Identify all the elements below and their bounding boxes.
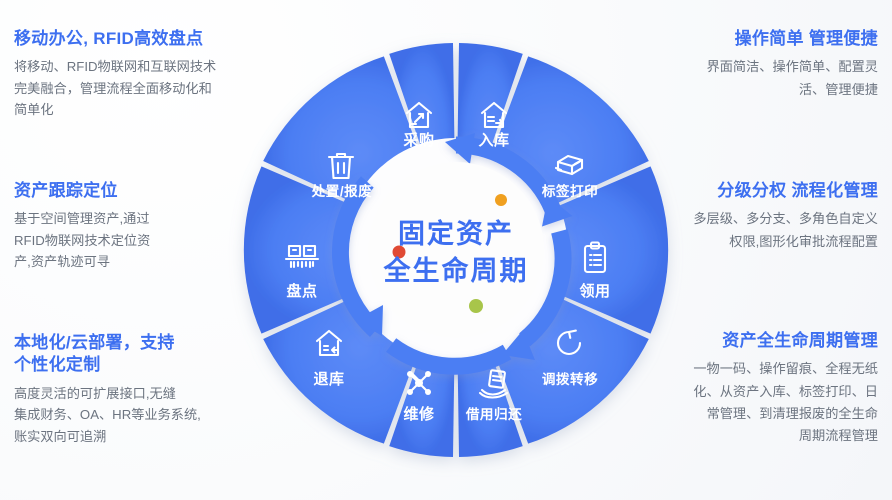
segment-label: 退库 [313, 370, 344, 388]
feature-title: 资产全生命周期管理 [646, 330, 878, 352]
feature-title: 操作简单 管理便捷 [646, 28, 878, 50]
feature-block-easy-operation: 操作简单 管理便捷 界面简洁、操作简单、配置灵 活、管理便捷 [646, 28, 878, 101]
feature-block-lifecycle: 资产全生命周期管理 一物一码、操作留痕、全程无纸 化、从资产入库、标签打印、日 … [646, 330, 878, 447]
segment-label: 维修 [403, 405, 435, 423]
dot-green-icon [469, 299, 483, 313]
segment-label: 借用归还 [465, 406, 522, 422]
feature-body: 多层级、多分支、多角色自定义 权限,图形化审批流程配置 [646, 208, 878, 252]
segment-label: 领用 [578, 282, 610, 300]
segment-label: 采购 [402, 131, 434, 149]
dot-orange-icon [495, 194, 507, 206]
segment-label: 处置/报废 [311, 183, 373, 199]
infographic-canvas: 移动办公, RFID高效盘点 将移动、RFID物联网和互联网技术 完美融合，管理… [0, 0, 892, 500]
segment-label: 盘点 [286, 282, 317, 300]
center-title-line1: 固定资产 [398, 218, 514, 249]
feature-title: 分级分权 流程化管理 [646, 180, 878, 202]
center-title-line2: 全生命周期 [383, 255, 529, 286]
feature-block-authority: 分级分权 流程化管理 多层级、多分支、多角色自定义 权限,图形化审批流程配置 [646, 180, 878, 253]
lifecycle-wheel: 固定资产 全生命周期 采购 [236, 30, 676, 470]
segment-label: 调拨转移 [542, 371, 598, 387]
segment-label: 入库 [478, 131, 509, 149]
feature-body: 一物一码、操作留痕、全程无纸 化、从资产入库、标签打印、日 常管理、到清理报废的… [646, 358, 878, 447]
segment-label: 标签打印 [541, 183, 598, 199]
feature-body: 界面简洁、操作简单、配置灵 活、管理便捷 [646, 56, 878, 100]
